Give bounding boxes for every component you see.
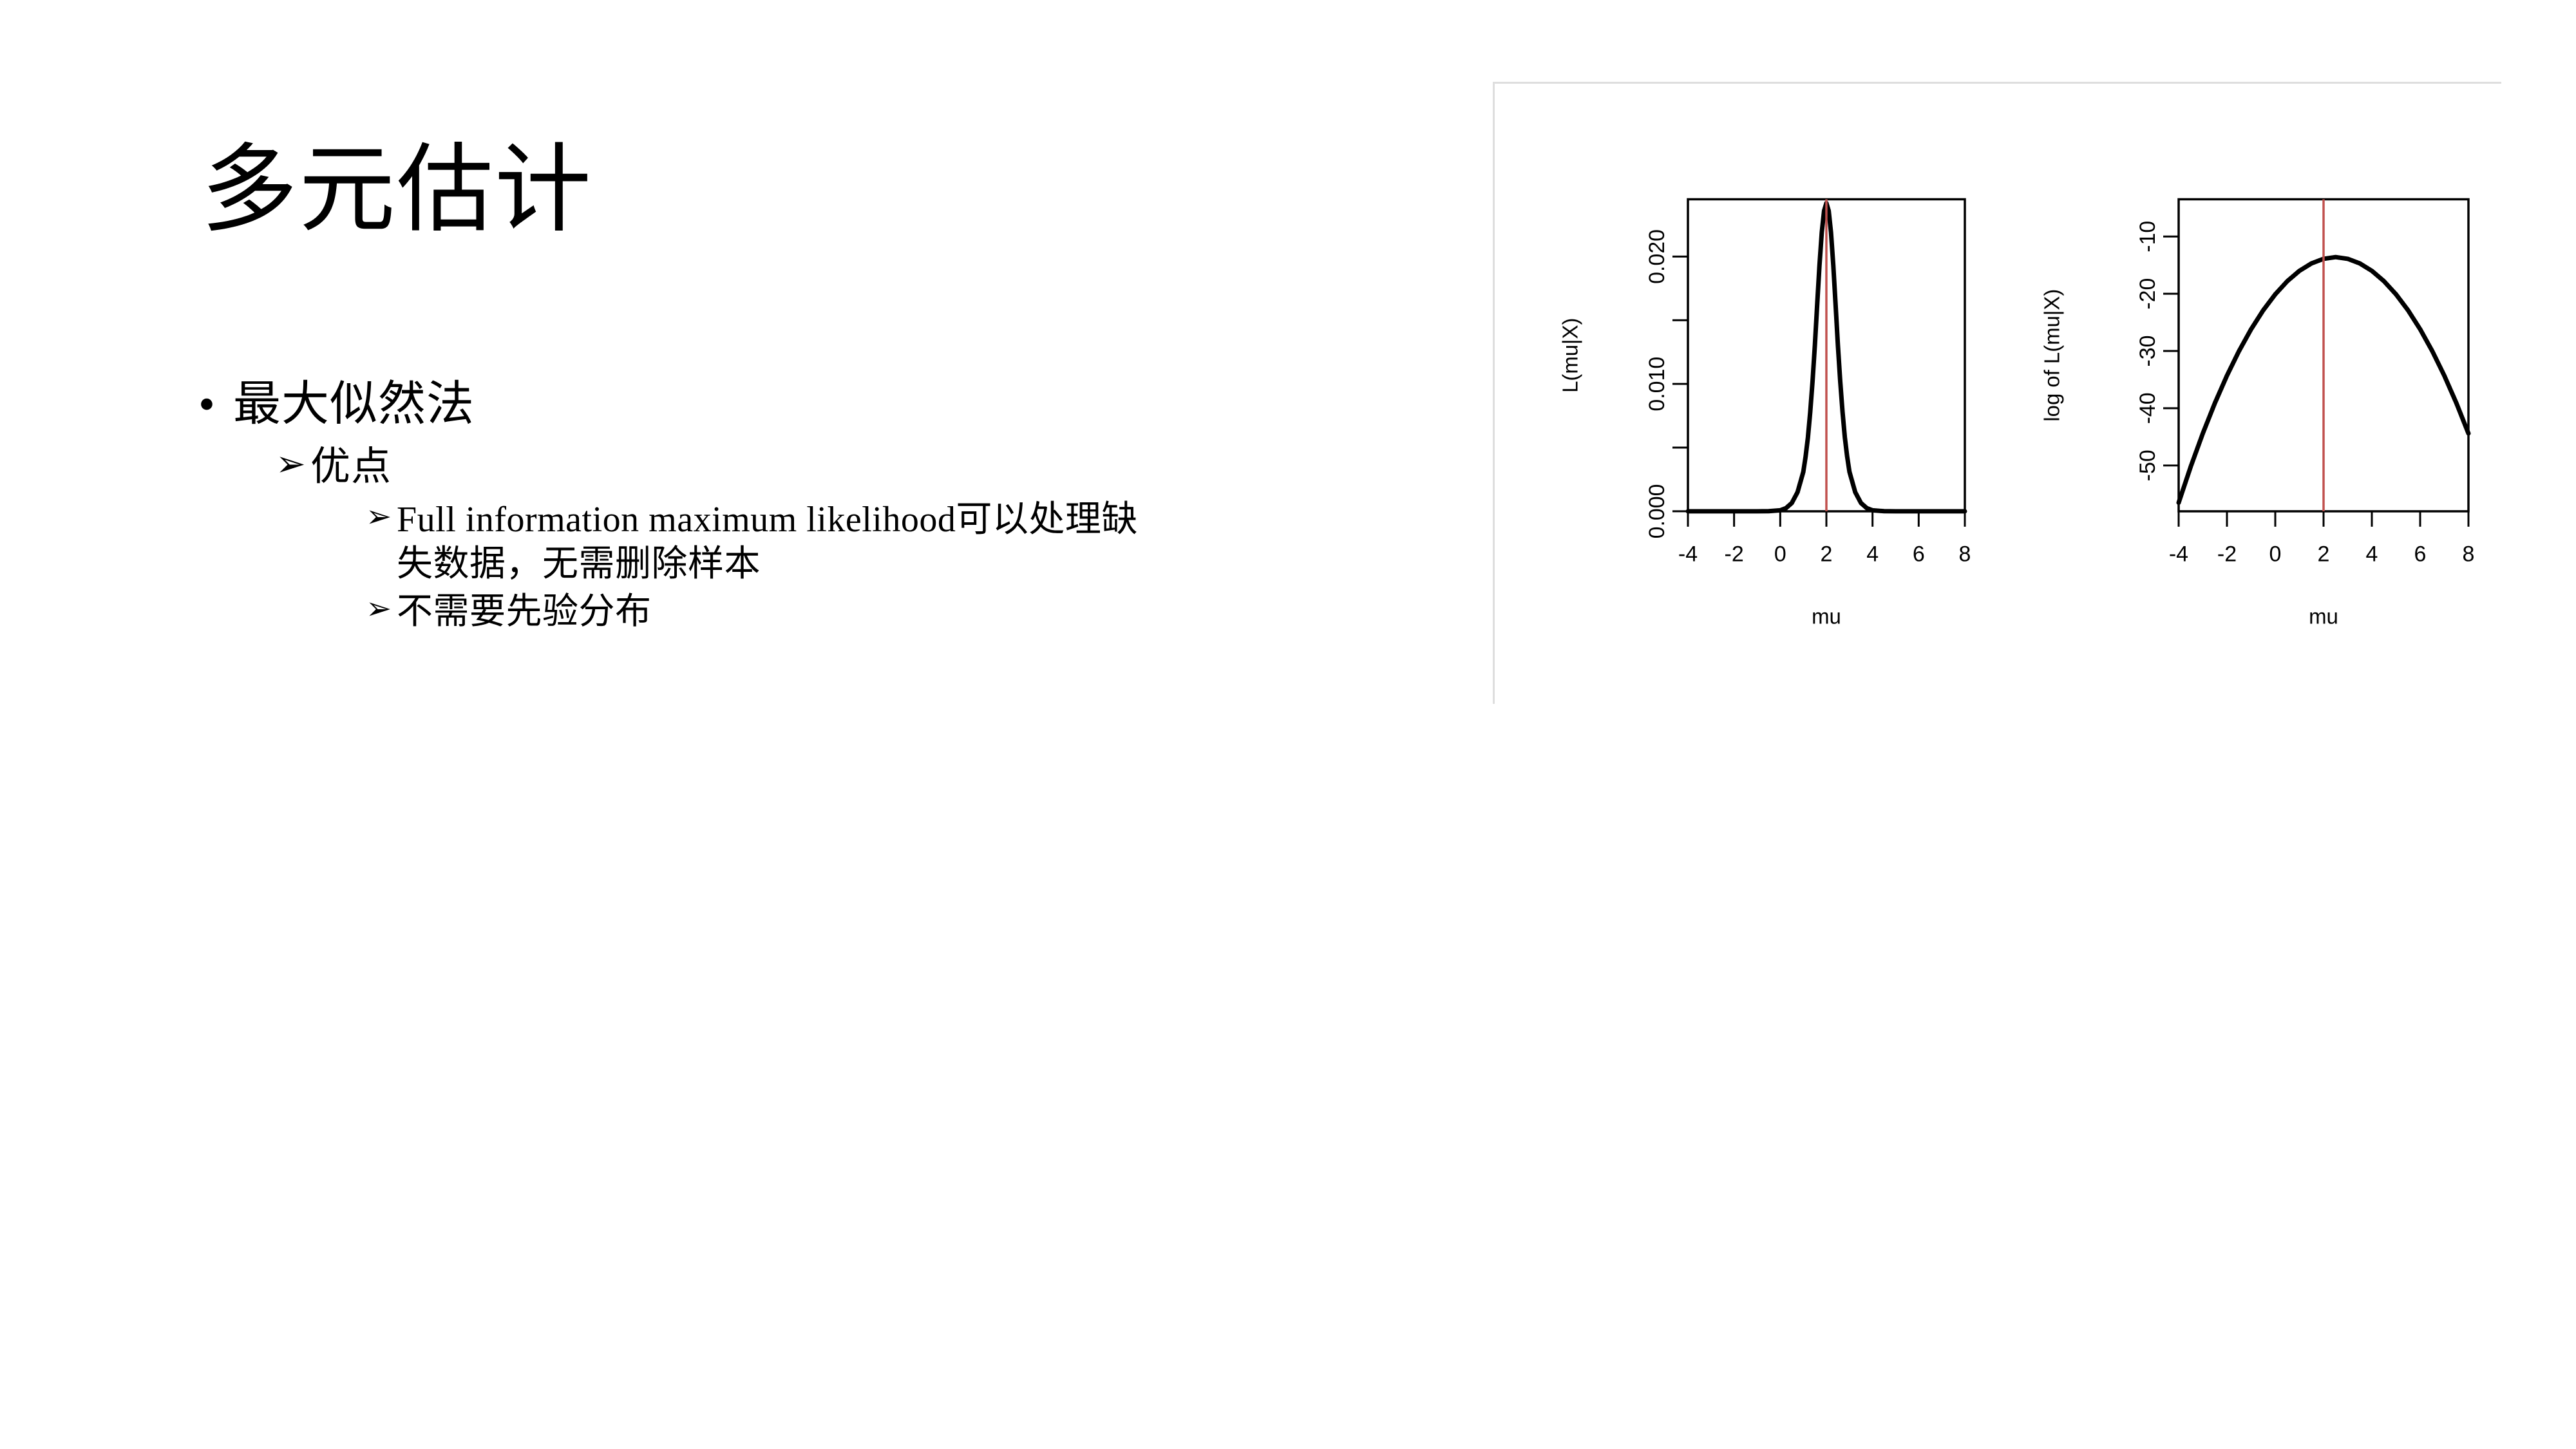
list-item[interactable]: ➢ 优点: [276, 443, 1417, 491]
page-title: 多元估计: [201, 140, 592, 242]
svg-text:8: 8: [1959, 542, 1971, 567]
list-item[interactable]: ➢ 不需要先验分布: [366, 590, 1417, 634]
svg-text:2: 2: [1821, 542, 1833, 567]
likelihood-plot: -4-2024680.0000.0100.020muL(mu|X): [1495, 84, 2003, 704]
svg-text:2: 2: [2318, 542, 2330, 567]
list-item[interactable]: ➢ Full information maximum likelihood可以处…: [366, 498, 1417, 587]
svg-text:mu: mu: [2309, 604, 2338, 628]
svg-text:-10: -10: [2136, 221, 2160, 252]
svg-text:4: 4: [1866, 542, 1879, 567]
svg-text:6: 6: [1913, 542, 1925, 567]
list-item-label: 优点: [310, 443, 392, 491]
svg-text:0.010: 0.010: [1645, 357, 1669, 412]
list-item[interactable]: • 最大似然法: [193, 377, 1417, 433]
bullet-list: • 最大似然法 ➢ 优点 ➢ Full information maximum …: [193, 377, 1417, 637]
svg-text:-4: -4: [2169, 542, 2188, 567]
svg-text:0: 0: [1774, 542, 1786, 567]
svg-text:0.020: 0.020: [1645, 229, 1669, 284]
svg-text:L(mu|X): L(mu|X): [1558, 318, 1582, 393]
svg-text:6: 6: [2414, 542, 2427, 567]
svg-text:-30: -30: [2136, 336, 2160, 367]
bullet-dot-icon: •: [193, 377, 233, 433]
svg-text:-50: -50: [2136, 450, 2160, 481]
svg-text:0.000: 0.000: [1645, 484, 1669, 539]
svg-text:0: 0: [2269, 542, 2282, 567]
svg-text:-2: -2: [1725, 542, 1744, 567]
list-item-label: Full information maximum likelihood可以处理缺…: [397, 498, 1144, 587]
svg-text:4: 4: [2366, 542, 2378, 567]
figure-image-frame[interactable]: -4-2024680.0000.0100.020muL(mu|X) -4-202…: [1493, 82, 2501, 704]
likelihood-plot-svg: -4-2024680.0000.0100.020muL(mu|X): [1495, 84, 2003, 704]
bullet-arrow-icon: ➢: [276, 443, 310, 486]
svg-text:-4: -4: [1678, 542, 1698, 567]
bullet-arrow-icon: ➢: [366, 498, 397, 536]
svg-text:log of L(mu|X): log of L(mu|X): [2040, 289, 2064, 422]
bullet-arrow-icon: ➢: [366, 590, 397, 629]
svg-text:-40: -40: [2136, 392, 2160, 424]
log-likelihood-plot-svg: -4-202468-50-40-30-20-10mulog of L(mu|X): [2003, 84, 2503, 704]
svg-text:mu: mu: [1812, 604, 1841, 628]
list-item-label: 最大似然法: [233, 377, 475, 433]
slide-canvas: 多元估计 • 最大似然法 ➢ 优点 ➢ Full information max…: [0, 0, 2576, 1449]
log-likelihood-plot: -4-202468-50-40-30-20-10mulog of L(mu|X): [2003, 84, 2503, 704]
svg-text:-2: -2: [2217, 542, 2237, 567]
list-item-label: 不需要先验分布: [397, 590, 652, 634]
svg-text:-20: -20: [2136, 278, 2160, 310]
svg-text:8: 8: [2463, 542, 2475, 567]
